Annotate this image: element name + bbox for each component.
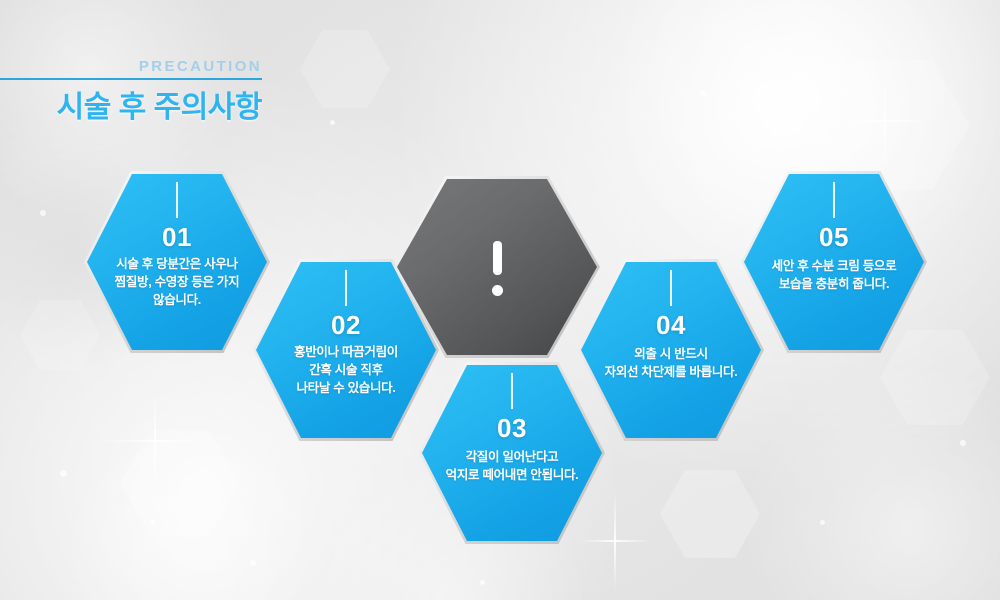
background-hexagon [820, 60, 970, 190]
page-title: 시술 후 주의사항 [0, 82, 262, 126]
step-number-04: 04 [581, 310, 761, 341]
exclamation-bar [493, 241, 502, 275]
bokeh-dot [960, 440, 966, 446]
background-hexagon [660, 470, 760, 558]
step-text-line: 홍반이나 따끔거림이 [256, 344, 436, 362]
step-text-05: 세안 후 수분 크림 등으로 보습을 충분히 줍니다. [744, 258, 924, 294]
background-hexagon [20, 300, 100, 370]
hexagon-step-01[interactable]: 01 시술 후 당분간은 사우나 찜질방, 수영장 등은 가지 않습니다. [87, 174, 267, 350]
sparkle-decoration [840, 120, 930, 122]
bokeh-dot [150, 520, 155, 525]
bokeh-dot [60, 470, 67, 477]
step-text-line: 보습을 충분히 줍니다. [744, 276, 924, 294]
step-text-line: 세안 후 수분 크림 등으로 [744, 258, 924, 276]
background-hexagon [120, 430, 240, 535]
bokeh-dot [820, 520, 825, 525]
step-number-01: 01 [87, 222, 267, 253]
step-text-01: 시술 후 당분간은 사우나 찜질방, 수영장 등은 가지 않습니다. [87, 256, 267, 309]
bokeh-dot [250, 560, 256, 566]
bokeh-blob [60, 420, 320, 600]
background-hexagon [880, 330, 990, 425]
step-text-line: 간혹 시술 직후 [256, 362, 436, 380]
step-tick-04 [670, 270, 672, 306]
step-text-line: 억지로 떼어내면 안됩니다. [422, 467, 602, 485]
exclamation-dot [492, 285, 503, 296]
eyebrow-label: PRECAUTION [0, 58, 262, 75]
bokeh-blob [740, 360, 1000, 600]
step-number-02: 02 [256, 310, 436, 341]
infographic-stage: PRECAUTION 시술 후 주의사항 01 시술 후 당분간은 사우나 찜질… [0, 0, 1000, 600]
header: PRECAUTION 시술 후 주의사항 [0, 0, 560, 130]
step-text-line: 찜질방, 수영장 등은 가지 [87, 274, 267, 292]
sparkle-decoration [580, 540, 650, 542]
step-tick-05 [833, 182, 835, 218]
step-text-03: 각질이 일어난다고 억지로 떼어내면 안됩니다. [422, 449, 602, 485]
step-text-line: 나타날 수 있습니다. [256, 380, 436, 398]
bokeh-dot [40, 210, 46, 216]
exclamation-mark-icon [487, 241, 507, 303]
title-divider-rule [0, 78, 262, 80]
bokeh-dot [700, 90, 706, 96]
hexagon-step-03[interactable]: 03 각질이 일어난다고 억지로 떼어내면 안됩니다. [422, 365, 602, 541]
bokeh-dot [480, 580, 485, 585]
sparkle-decoration [100, 440, 210, 442]
step-text-line: 외출 시 반드시 [581, 346, 761, 364]
step-tick-03 [511, 373, 513, 409]
step-text-line: 각질이 일어난다고 [422, 449, 602, 467]
hexagon-step-05[interactable]: 05 세안 후 수분 크림 등으로 보습을 충분히 줍니다. [744, 174, 924, 350]
step-tick-02 [345, 270, 347, 306]
step-text-line: 자외선 차단제를 바릅니다. [581, 364, 761, 382]
step-tick-01 [176, 182, 178, 218]
hexagon-step-04[interactable]: 04 외출 시 반드시 자외선 차단제를 바릅니다. [581, 262, 761, 438]
step-number-05: 05 [744, 222, 924, 253]
step-text-line: 시술 후 당분간은 사우나 [87, 256, 267, 274]
step-text-line: 않습니다. [87, 292, 267, 310]
step-text-04: 외출 시 반드시 자외선 차단제를 바릅니다. [581, 346, 761, 382]
step-number-03: 03 [422, 413, 602, 444]
step-text-02: 홍반이나 따끔거림이 간혹 시술 직후 나타날 수 있습니다. [256, 344, 436, 397]
